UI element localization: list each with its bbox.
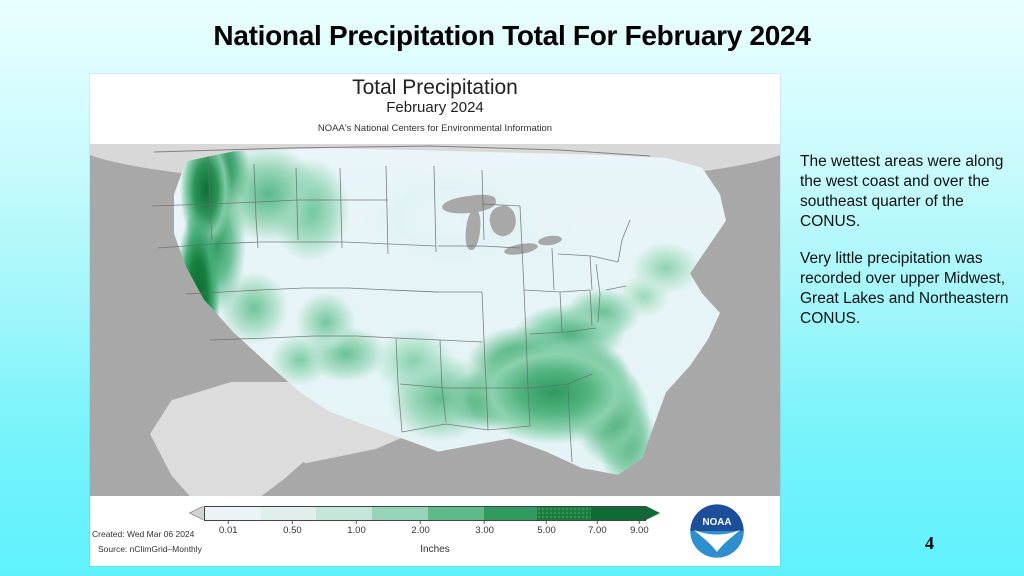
legend-tick-text: 7.00 [588, 525, 607, 536]
legend-band-1 [261, 507, 317, 520]
legend-above-range-arrow [646, 506, 660, 520]
slide: National Precipitation Total For Februar… [0, 0, 1024, 576]
legend-band-2 [316, 507, 372, 520]
color-legend [190, 506, 660, 521]
legend-tick-2.00: 2.00 [411, 521, 430, 536]
page-number: 4 [925, 533, 934, 554]
created-date-label: Created: Wed Mar 06 2024 [92, 529, 194, 539]
legend-band-7 [591, 507, 645, 520]
legend-tick-mark [356, 521, 357, 524]
legend-tick-mark [484, 521, 485, 524]
legend-tick-5.00: 5.00 [537, 521, 556, 536]
legend-tick-text: 1.00 [347, 525, 366, 536]
legend-tick-3.00: 3.00 [475, 521, 494, 536]
legend-tick-text: 0.01 [219, 525, 238, 536]
legend-tick-mark [292, 521, 293, 524]
legend-tick-mark [228, 521, 229, 524]
precipitation-map-figure: Total Precipitation February 2024 NOAA's… [90, 74, 780, 566]
legend-tick-0.50: 0.50 [283, 521, 302, 536]
noaa-logo-icon: NOAA [688, 502, 746, 560]
legend-color-bar [204, 506, 646, 521]
legend-band-3 [372, 507, 428, 520]
legend-tick-labels: 0.010.501.002.003.005.007.009.00 [190, 521, 660, 537]
legend-tick-mark [597, 521, 598, 524]
map-footer: 0.010.501.002.003.005.007.009.00 Inches … [90, 496, 780, 566]
page-title: National Precipitation Total For Februar… [0, 20, 1024, 52]
legend-tick-9.00: 9.00 [630, 521, 649, 536]
caption-paragraph-1: The wettest areas were along the west co… [800, 152, 1012, 232]
map-header: Total Precipitation February 2024 NOAA's… [90, 74, 780, 144]
legend-tick-text: 2.00 [411, 525, 430, 536]
legend-band-0 [205, 507, 261, 520]
legend-band-5 [484, 507, 538, 520]
legend-tick-mark [639, 521, 640, 524]
map-subtitle: February 2024 [90, 99, 780, 116]
legend-below-range-arrow [190, 506, 204, 520]
caption-block: The wettest areas were along the west co… [800, 152, 1012, 329]
legend-tick-mark [546, 521, 547, 524]
legend-band-4 [428, 507, 484, 520]
map-title: Total Precipitation [90, 76, 780, 100]
legend-tick-mark [420, 521, 421, 524]
legend-tick-text: 5.00 [537, 525, 556, 536]
map-credit: NOAA's National Centers for Environmenta… [90, 123, 780, 134]
caption-paragraph-2: Very little precipitation was recorded o… [800, 249, 1012, 329]
map-canvas [90, 144, 780, 496]
data-source-label: Source: nClimGrid–Monthly [98, 544, 202, 554]
legend-tick-1.00: 1.00 [347, 521, 366, 536]
legend-band-6 [537, 507, 591, 520]
legend-tick-0.01: 0.01 [219, 521, 238, 536]
legend-tick-text: 3.00 [475, 525, 494, 536]
noaa-logo-text: NOAA [703, 517, 732, 528]
legend-tick-text: 0.50 [283, 525, 302, 536]
legend-tick-7.00: 7.00 [588, 521, 607, 536]
legend-tick-text: 9.00 [630, 525, 649, 536]
